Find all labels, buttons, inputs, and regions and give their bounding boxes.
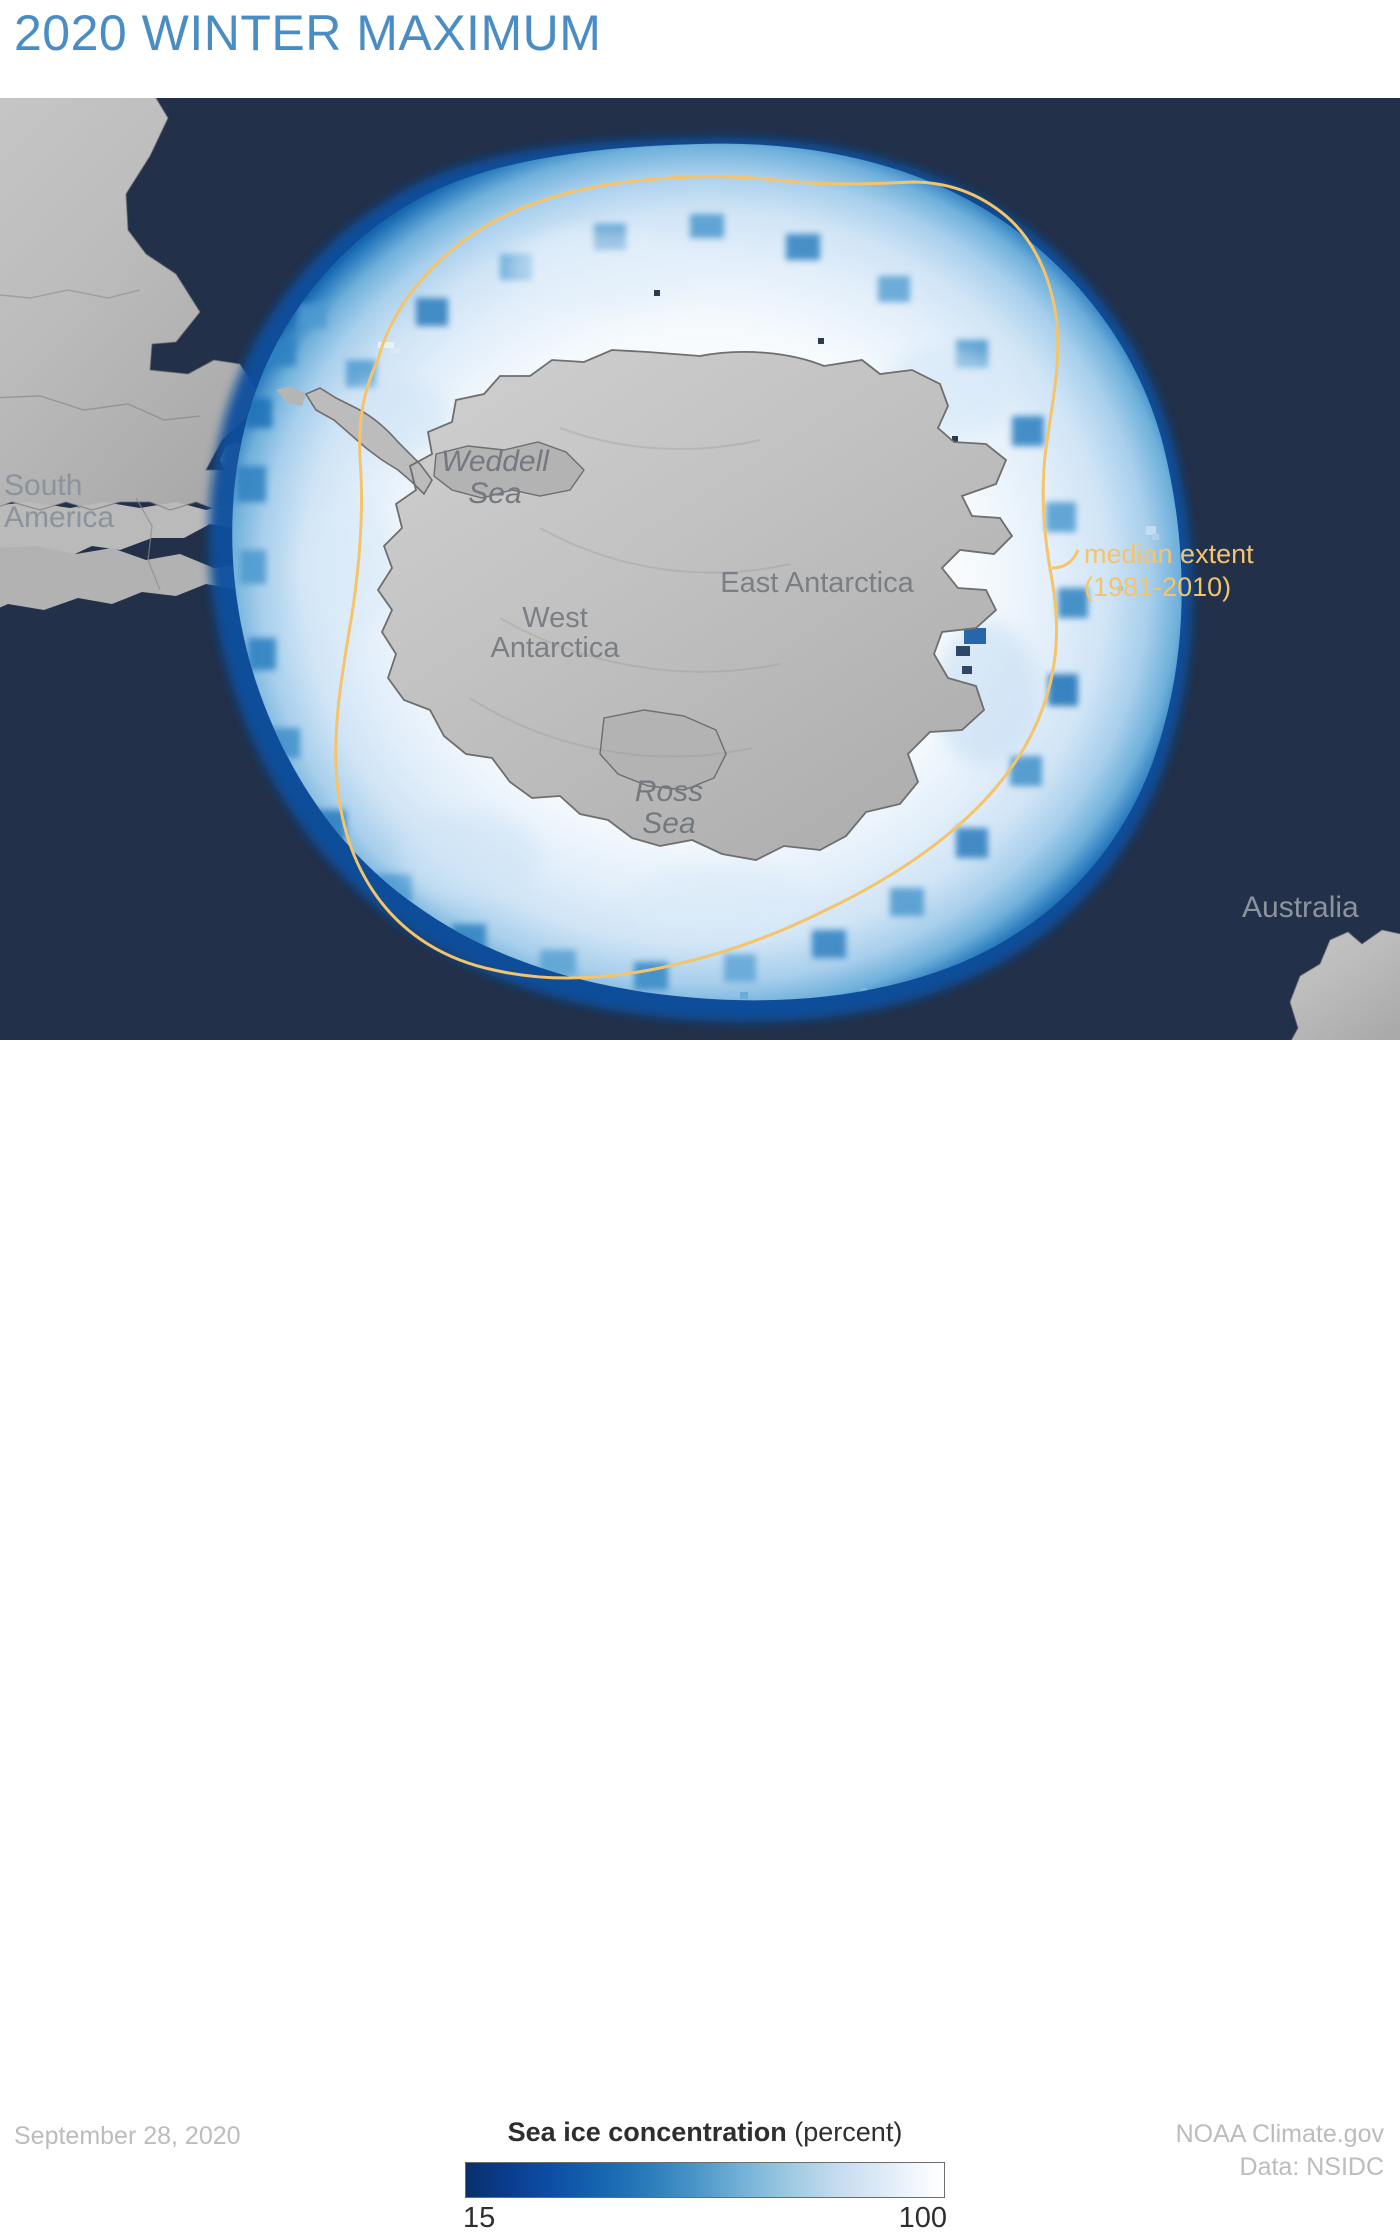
- title-bar: 2020 WINTER MAXIMUM: [0, 0, 1400, 98]
- footer-bar: September 28, 2020 Sea ice concentration…: [0, 1040, 1400, 1200]
- colorbar-max-tick: 100: [899, 2202, 947, 2235]
- credit-block: NOAA Climate.gov Data: NSIDC: [1176, 2118, 1384, 2184]
- legend-title-main: Sea ice concentration: [508, 2117, 787, 2147]
- colorbar-tick-row: 15 100: [465, 2202, 945, 2236]
- colorbar-legend: Sea ice concentration (percent) 15 100: [465, 2116, 945, 2236]
- date-stamp: September 28, 2020: [14, 2122, 241, 2151]
- legend-title-unit: [787, 2117, 795, 2147]
- map-canvas[interactable]: Weddell Sea Ross Sea East Antarctica Wes…: [0, 98, 1400, 1040]
- legend-title-unit-text: (percent): [794, 2117, 902, 2147]
- page-title: 2020 WINTER MAXIMUM: [14, 4, 601, 62]
- antarctic-sea-ice-map: [0, 98, 1400, 1040]
- legend-title: Sea ice concentration (percent): [465, 2116, 945, 2148]
- colorbar-gradient: [465, 2162, 945, 2198]
- credit-data-source: Data: NSIDC: [1176, 2151, 1384, 2184]
- colorbar-min-tick: 15: [463, 2202, 495, 2235]
- credit-publisher: NOAA Climate.gov: [1176, 2118, 1384, 2151]
